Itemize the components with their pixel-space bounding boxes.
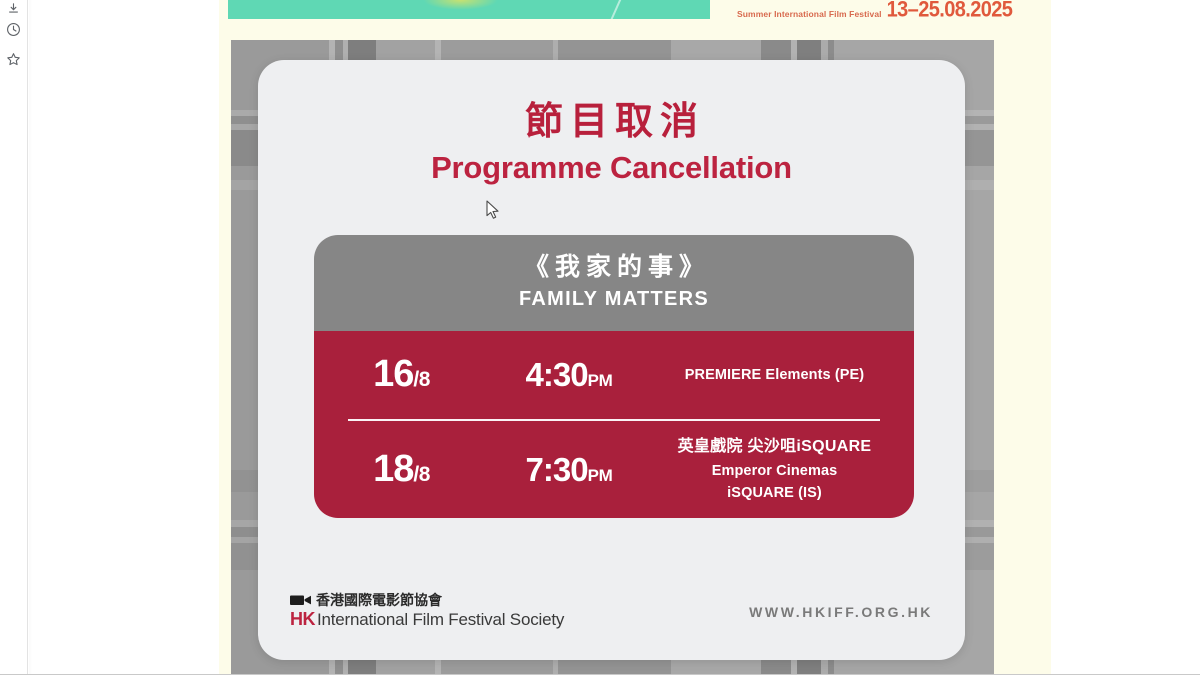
festival-dates: 13–25.08.2025	[887, 0, 1013, 23]
website-url[interactable]: WWW.HKIFF.ORG.HK	[749, 604, 933, 620]
screenshot-root: Summer International Film Festival 13–25…	[0, 0, 1200, 675]
screening-row: 18/8 7:30PM 英皇戲院 尖沙咀iSQUARE Emperor Cine…	[314, 421, 914, 519]
screening-list: 16/8 4:30PM PREMIERE Elements (PE) 18/8	[314, 331, 914, 519]
download-icon[interactable]	[3, 0, 25, 14]
teal-banner-fragment	[228, 0, 710, 19]
logo-top-row: 香港國際電影節協會	[290, 593, 564, 607]
browser-left-rail	[0, 0, 28, 675]
poster-card: 節目取消 Programme Cancellation 《我家的事》 FAMIL…	[258, 60, 965, 660]
venue-line: Emperor Cinemas	[649, 460, 900, 482]
screening-row: 16/8 4:30PM PREMIERE Elements (PE)	[314, 331, 914, 419]
logo-bottom-row: HK International Film Festival Society	[290, 609, 564, 630]
screening-panel: 《我家的事》 FAMILY MATTERS 16/8 4:30PM PREMIE…	[314, 235, 914, 518]
screening-date: 18/8	[314, 448, 489, 491]
venue-line: 英皇戲院 尖沙咀iSQUARE	[649, 435, 900, 460]
screening-time: 4:30PM	[489, 356, 649, 394]
screening-time-meridiem: PM	[588, 371, 613, 390]
logo-org-chinese: 香港國際電影節協會	[316, 593, 442, 607]
festival-subtitle: Summer International Film Festival	[737, 9, 882, 23]
film-title-english: FAMILY MATTERS	[314, 288, 914, 311]
headline-chinese: 節目取消	[265, 102, 965, 144]
teal-banner-highlight	[423, 0, 498, 10]
festival-header: Summer International Film Festival 13–25…	[737, 0, 1012, 23]
film-title-chinese: 《我家的事》	[320, 253, 914, 282]
bookmark-star-icon[interactable]	[3, 44, 25, 74]
poster-footer: 香港國際電影節協會 HK International Film Festival…	[258, 593, 965, 630]
screening-month: /8	[413, 463, 430, 486]
logo-org-english: International Film Festival Society	[317, 610, 564, 630]
headline-block: 節目取消 Programme Cancellation	[258, 102, 965, 185]
screening-day: 16	[373, 353, 413, 395]
screening-time: 7:30PM	[489, 451, 649, 489]
screening-time-meridiem: PM	[588, 466, 613, 485]
logo-hk-mark: HK	[290, 609, 315, 630]
screening-row-divider	[348, 419, 880, 421]
screening-time-value: 4:30	[526, 356, 588, 393]
teal-banner-diagonal	[602, 0, 632, 19]
venue-line: iSQUARE (IS)	[649, 482, 900, 504]
screening-month: /8	[413, 368, 430, 391]
movie-camera-icon	[290, 594, 312, 606]
rail-gutter	[29, 0, 32, 675]
history-clock-icon[interactable]	[3, 14, 25, 44]
screening-venue: PREMIERE Elements (PE)	[649, 364, 914, 386]
headline-english: Programme Cancellation	[258, 151, 965, 185]
screening-time-value: 7:30	[526, 451, 588, 488]
screening-date: 16/8	[314, 353, 489, 396]
venue-line: PREMIERE Elements (PE)	[649, 364, 900, 386]
film-title-banner: 《我家的事》 FAMILY MATTERS	[314, 235, 914, 331]
screening-day: 18	[373, 448, 413, 490]
hkiff-logo: 香港國際電影節協會 HK International Film Festival…	[290, 593, 564, 630]
screening-venue: 英皇戲院 尖沙咀iSQUARE Emperor Cinemas iSQUARE …	[649, 435, 914, 505]
